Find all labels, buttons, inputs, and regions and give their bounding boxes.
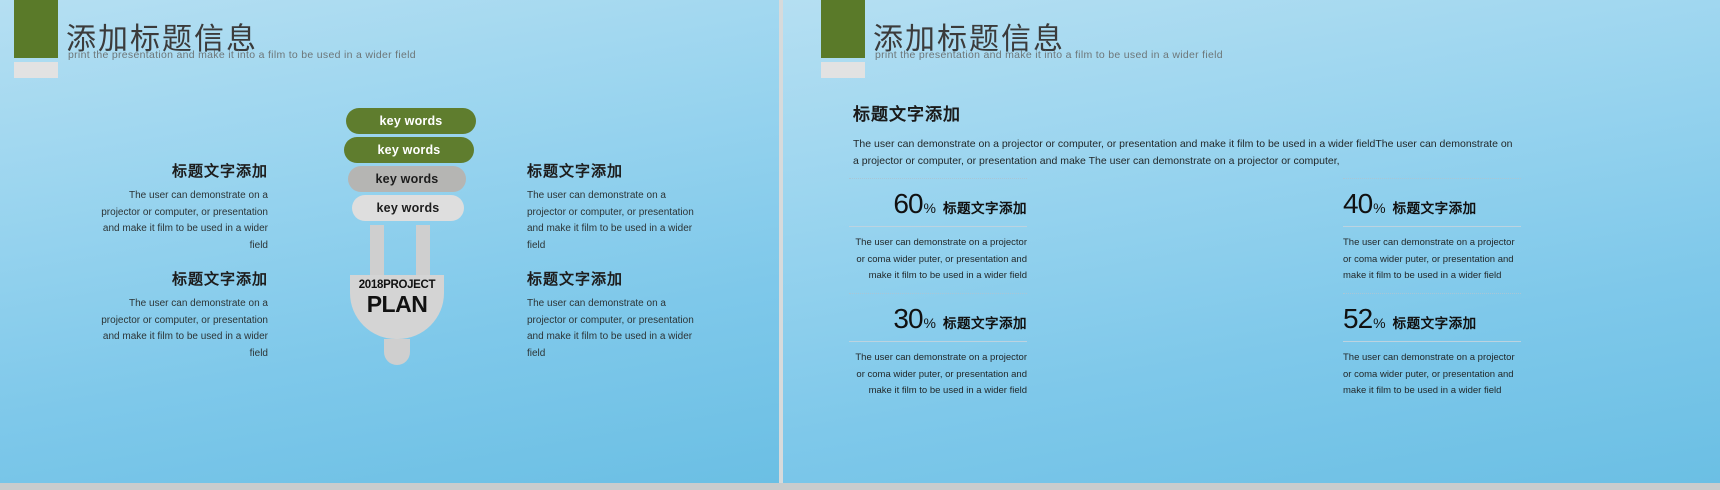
stat-number: 30 bbox=[893, 303, 922, 335]
stat-divider-top bbox=[849, 293, 1027, 294]
bulb-filament-right bbox=[416, 225, 430, 275]
stat-percent-sign: % bbox=[924, 200, 936, 216]
stat-number: 40 bbox=[1343, 188, 1372, 220]
page-subtitle: print the presentation and make it into … bbox=[68, 49, 416, 61]
slide-right: 添加标题信息 print the presentation and make i… bbox=[783, 0, 1720, 483]
bulb-base-big-text: PLAN bbox=[367, 292, 428, 316]
stat-heading: 30 % 标题文字添加 bbox=[849, 303, 1027, 335]
stat-percent-sign: % bbox=[1373, 200, 1385, 216]
bulb-base: 2018PROJECT PLAN bbox=[350, 275, 444, 339]
text-block-body: The user can demonstrate on a projector … bbox=[527, 188, 703, 254]
stat-card-40: 40 % 标题文字添加 The user can demonstrate on … bbox=[1343, 178, 1521, 285]
stat-heading: 40 % 标题文字添加 bbox=[1343, 188, 1521, 220]
keyword-pill-4[interactable]: key words bbox=[352, 195, 464, 221]
header-accent-mark bbox=[821, 0, 865, 78]
text-block-title: 标题文字添加 bbox=[527, 160, 703, 181]
stat-body: The user can demonstrate on a projector … bbox=[849, 235, 1027, 285]
bulb-stem bbox=[384, 339, 410, 365]
stat-label: 标题文字添加 bbox=[1393, 312, 1477, 332]
slide-left: 添加标题信息 print the presentation and make i… bbox=[0, 0, 779, 483]
header-accent-green bbox=[14, 0, 58, 58]
stat-number: 60 bbox=[893, 188, 922, 220]
header-accent-mark bbox=[14, 0, 58, 78]
text-block-title: 标题文字添加 bbox=[527, 268, 703, 289]
header-accent-grey bbox=[821, 62, 865, 78]
slide-divider bbox=[779, 0, 783, 483]
bulb-base-small-text: 2018PROJECT bbox=[359, 280, 436, 292]
text-block-body: The user can demonstrate on a projector … bbox=[527, 296, 703, 362]
text-block-top-left: 标题文字添加 The user can demonstrate on a pro… bbox=[92, 160, 268, 254]
stat-label: 标题文字添加 bbox=[943, 312, 1027, 332]
bulb-filament-left bbox=[370, 225, 384, 275]
text-block-body: The user can demonstrate on a projector … bbox=[92, 296, 268, 362]
text-block-title: 标题文字添加 bbox=[92, 160, 268, 181]
intro-title: 标题文字添加 bbox=[853, 100, 1513, 125]
keyword-pill-1[interactable]: key words bbox=[346, 108, 476, 134]
text-block-top-right: 标题文字添加 The user can demonstrate on a pro… bbox=[527, 160, 703, 254]
presentation-stage: 添加标题信息 print the presentation and make i… bbox=[0, 0, 1720, 490]
text-block-body: The user can demonstrate on a projector … bbox=[92, 188, 268, 254]
stat-divider-top bbox=[1343, 293, 1521, 294]
intro-block: 标题文字添加 The user can demonstrate on a pro… bbox=[853, 100, 1513, 170]
header-accent-grey bbox=[14, 62, 58, 78]
stat-card-60: 60 % 标题文字添加 The user can demonstrate on … bbox=[849, 178, 1027, 285]
text-block-bottom-left: 标题文字添加 The user can demonstrate on a pro… bbox=[92, 268, 268, 362]
bottom-band bbox=[0, 483, 1720, 490]
stat-card-30: 30 % 标题文字添加 The user can demonstrate on … bbox=[849, 293, 1027, 400]
stat-divider-bottom bbox=[849, 226, 1027, 227]
stat-number: 52 bbox=[1343, 303, 1372, 335]
stat-divider-bottom bbox=[1343, 341, 1521, 342]
stat-percent-sign: % bbox=[1373, 315, 1385, 331]
stat-heading: 60 % 标题文字添加 bbox=[849, 188, 1027, 220]
keyword-pill-3[interactable]: key words bbox=[348, 166, 466, 192]
stat-divider-top bbox=[1343, 178, 1521, 179]
header-accent-green bbox=[821, 0, 865, 58]
lightbulb-graphic: key words key words key words key words … bbox=[336, 108, 476, 365]
text-block-bottom-right: 标题文字添加 The user can demonstrate on a pro… bbox=[527, 268, 703, 362]
stat-label: 标题文字添加 bbox=[1393, 197, 1477, 217]
stat-body: The user can demonstrate on a projector … bbox=[849, 350, 1027, 400]
stat-percent-sign: % bbox=[924, 315, 936, 331]
stat-divider-bottom bbox=[849, 341, 1027, 342]
stat-label: 标题文字添加 bbox=[943, 197, 1027, 217]
stat-body: The user can demonstrate on a projector … bbox=[1343, 350, 1521, 400]
keyword-pill-2[interactable]: key words bbox=[344, 137, 474, 163]
stat-divider-top bbox=[849, 178, 1027, 179]
stat-heading: 52 % 标题文字添加 bbox=[1343, 303, 1521, 335]
text-block-title: 标题文字添加 bbox=[92, 268, 268, 289]
stat-body: The user can demonstrate on a projector … bbox=[1343, 235, 1521, 285]
page-subtitle: print the presentation and make it into … bbox=[875, 49, 1223, 61]
stat-card-52: 52 % 标题文字添加 The user can demonstrate on … bbox=[1343, 293, 1521, 400]
stat-divider-bottom bbox=[1343, 226, 1521, 227]
intro-body: The user can demonstrate on a projector … bbox=[853, 136, 1513, 170]
bulb-filament-group bbox=[336, 225, 476, 275]
